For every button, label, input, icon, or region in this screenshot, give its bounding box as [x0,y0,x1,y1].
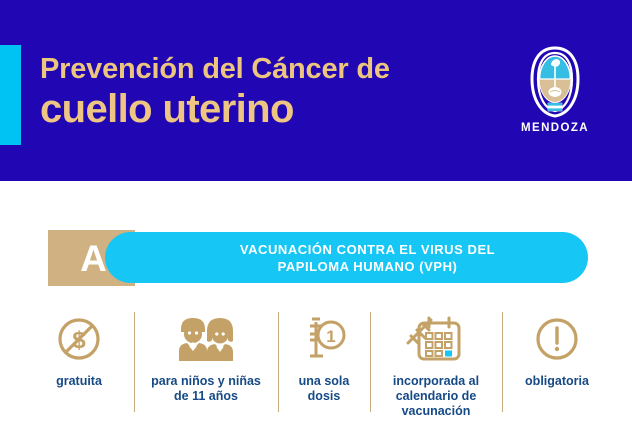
poster-root: Prevención del Cáncer de cuello uterino [0,0,632,442]
feature-label-dosis: una sola dosis [299,374,350,404]
title-line-2: cuello uterino [40,87,480,131]
syringe-one-dose-icon: 1 [299,312,349,366]
section-title-line-1: VACUNACIÓN CONTRA EL VIRUS DEL [240,241,495,258]
feature-label-calendario: incorporada al calendario de vacunación [393,374,479,419]
feature-item-dosis: 1 una sola dosis [278,312,370,404]
feature-item-gratuita: $ gratuita [24,312,134,389]
section-letter: A [76,240,107,277]
calendar-syringe-icon [405,312,467,366]
two-children-icon [171,312,241,366]
feature-item-calendario: incorporada al calendario de vacunación [370,312,502,419]
title-line-1: Prevención del Cáncer de [40,52,480,86]
feature-item-obligatoria: obligatoria [502,312,612,389]
mendoza-coat-of-arms-icon [526,46,584,118]
svg-text:1: 1 [326,327,335,346]
accent-bar [0,45,21,145]
feature-label-obligatoria: obligatoria [525,374,589,389]
page-title: Prevención del Cáncer de cuello uterino [40,52,480,131]
features-row: $ gratuita [24,312,612,430]
logo-caption: MENDOZA [505,122,605,134]
feature-label-gratuita: gratuita [56,374,102,389]
no-money-icon: $ [56,312,102,366]
section-title-text: VACUNACIÓN CONTRA EL VIRUS DEL PAPILOMA … [198,241,495,275]
feature-item-ninos: para niños y niñas de 11 años [134,312,278,404]
exclamation-circle-icon [534,312,580,366]
header-banner: Prevención del Cáncer de cuello uterino [0,0,632,181]
feature-label-ninos: para niños y niñas de 11 años [151,374,261,404]
mendoza-logo: MENDOZA [505,46,605,134]
section-a-bar: A VACUNACIÓN CONTRA EL VIRUS DEL PAPILOM… [48,230,588,286]
section-title-pill: VACUNACIÓN CONTRA EL VIRUS DEL PAPILOMA … [105,232,588,283]
section-title-line-2: PAPILOMA HUMANO (VPH) [240,258,495,275]
svg-text:$: $ [72,327,86,354]
